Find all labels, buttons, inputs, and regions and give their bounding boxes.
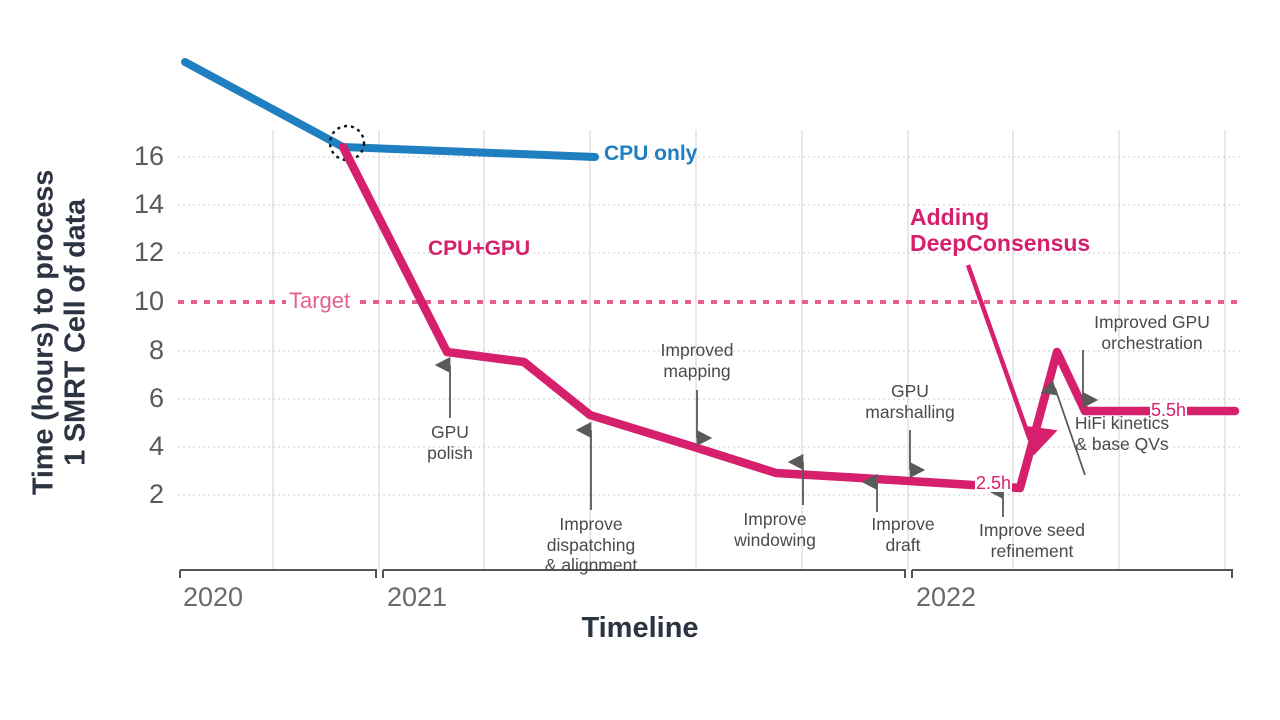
series-label-cpu-only: CPU only: [604, 143, 697, 164]
x-axis-title: Timeline: [0, 612, 1280, 645]
annotation-improve-dispatching-line1: Improve: [545, 514, 637, 535]
y-tick-14: 14: [120, 191, 164, 218]
x-tick-2022: 2022: [916, 584, 976, 611]
annotation-hifi-kinetics: HiFi kinetics & base QVs: [1075, 413, 1169, 454]
annotation-improve-windowing-line2: windowing: [734, 530, 816, 551]
arrow-adding-deepconsensus: [968, 265, 1030, 440]
annotation-improved-mapping: Improved mapping: [661, 340, 734, 381]
y-tick-2: 2: [120, 481, 164, 508]
callout-line2: DeepConsensus: [910, 230, 1090, 256]
annotation-improve-windowing: Improve windowing: [734, 509, 816, 550]
annotation-improve-dispatching-line3: & alignment: [545, 555, 637, 576]
xaxis-brackets: [180, 570, 1232, 578]
annotation-improve-dispatching: Improve dispatching & alignment: [545, 514, 637, 576]
callout-line1: Adding: [910, 204, 1090, 230]
annotation-improve-windowing-line1: Improve: [734, 509, 816, 530]
annotation-gpu-polish: GPU polish: [427, 422, 473, 463]
annotation-improved-gpu-orchestration: Improved GPU orchestration: [1094, 312, 1210, 353]
annotation-gpu-polish-line1: GPU: [427, 422, 473, 443]
annotation-gpu-polish-line2: polish: [427, 443, 473, 464]
y-axis-title: Time (hours) to process 1 SMRT Cell of d…: [28, 102, 93, 562]
target-label: Target: [286, 290, 353, 312]
series-label-cpu-gpu: CPU+GPU: [428, 238, 530, 259]
annotation-improved-gpu-orchestration-line2: orchestration: [1094, 333, 1210, 354]
y-tick-16: 16: [120, 143, 164, 170]
x-tick-2021: 2021: [387, 584, 447, 611]
y-axis-title-line2: 1 SMRT Cell of data: [60, 102, 92, 562]
chart-canvas: Time (hours) to process 1 SMRT Cell of d…: [0, 0, 1280, 720]
y-axis-title-line1: Time (hours) to process: [28, 102, 60, 562]
annotation-improve-draft: Improve draft: [871, 514, 934, 555]
annotation-improved-mapping-line2: mapping: [661, 361, 734, 382]
annotation-improve-seed-refinement: Improve seed refinement: [979, 520, 1085, 561]
annotation-improve-dispatching-line2: dispatching: [545, 535, 637, 556]
bracket-2021: [383, 570, 905, 578]
x-tick-2020: 2020: [183, 584, 243, 611]
y-tick-12: 12: [120, 239, 164, 266]
annotation-improved-gpu-orchestration-line1: Improved GPU: [1094, 312, 1210, 333]
annotation-improve-seed-refinement-line1: Improve seed: [979, 520, 1085, 541]
y-tick-10: 10: [120, 288, 164, 315]
annotation-hifi-kinetics-line2: & base QVs: [1075, 434, 1169, 455]
bracket-2020: [180, 570, 376, 578]
callout-adding-deepconsensus: Adding DeepConsensus: [910, 204, 1090, 256]
y-tick-4: 4: [120, 433, 164, 460]
annotation-improved-mapping-line1: Improved: [661, 340, 734, 361]
annotation-gpu-marshalling: GPU marshalling: [865, 381, 954, 422]
y-tick-6: 6: [120, 385, 164, 412]
annotation-gpu-marshalling-line2: marshalling: [865, 402, 954, 423]
bracket-2022: [912, 570, 1232, 578]
y-tick-8: 8: [120, 337, 164, 364]
value-label-2-5h: 2.5h: [975, 474, 1012, 492]
series-cpu-only-line: [185, 62, 595, 157]
annotation-improve-draft-line2: draft: [871, 535, 934, 556]
annotation-gpu-marshalling-line1: GPU: [865, 381, 954, 402]
annotation-hifi-kinetics-line1: HiFi kinetics: [1075, 413, 1169, 434]
annotation-improve-draft-line1: Improve: [871, 514, 934, 535]
annotation-improve-seed-refinement-line2: refinement: [979, 541, 1085, 562]
